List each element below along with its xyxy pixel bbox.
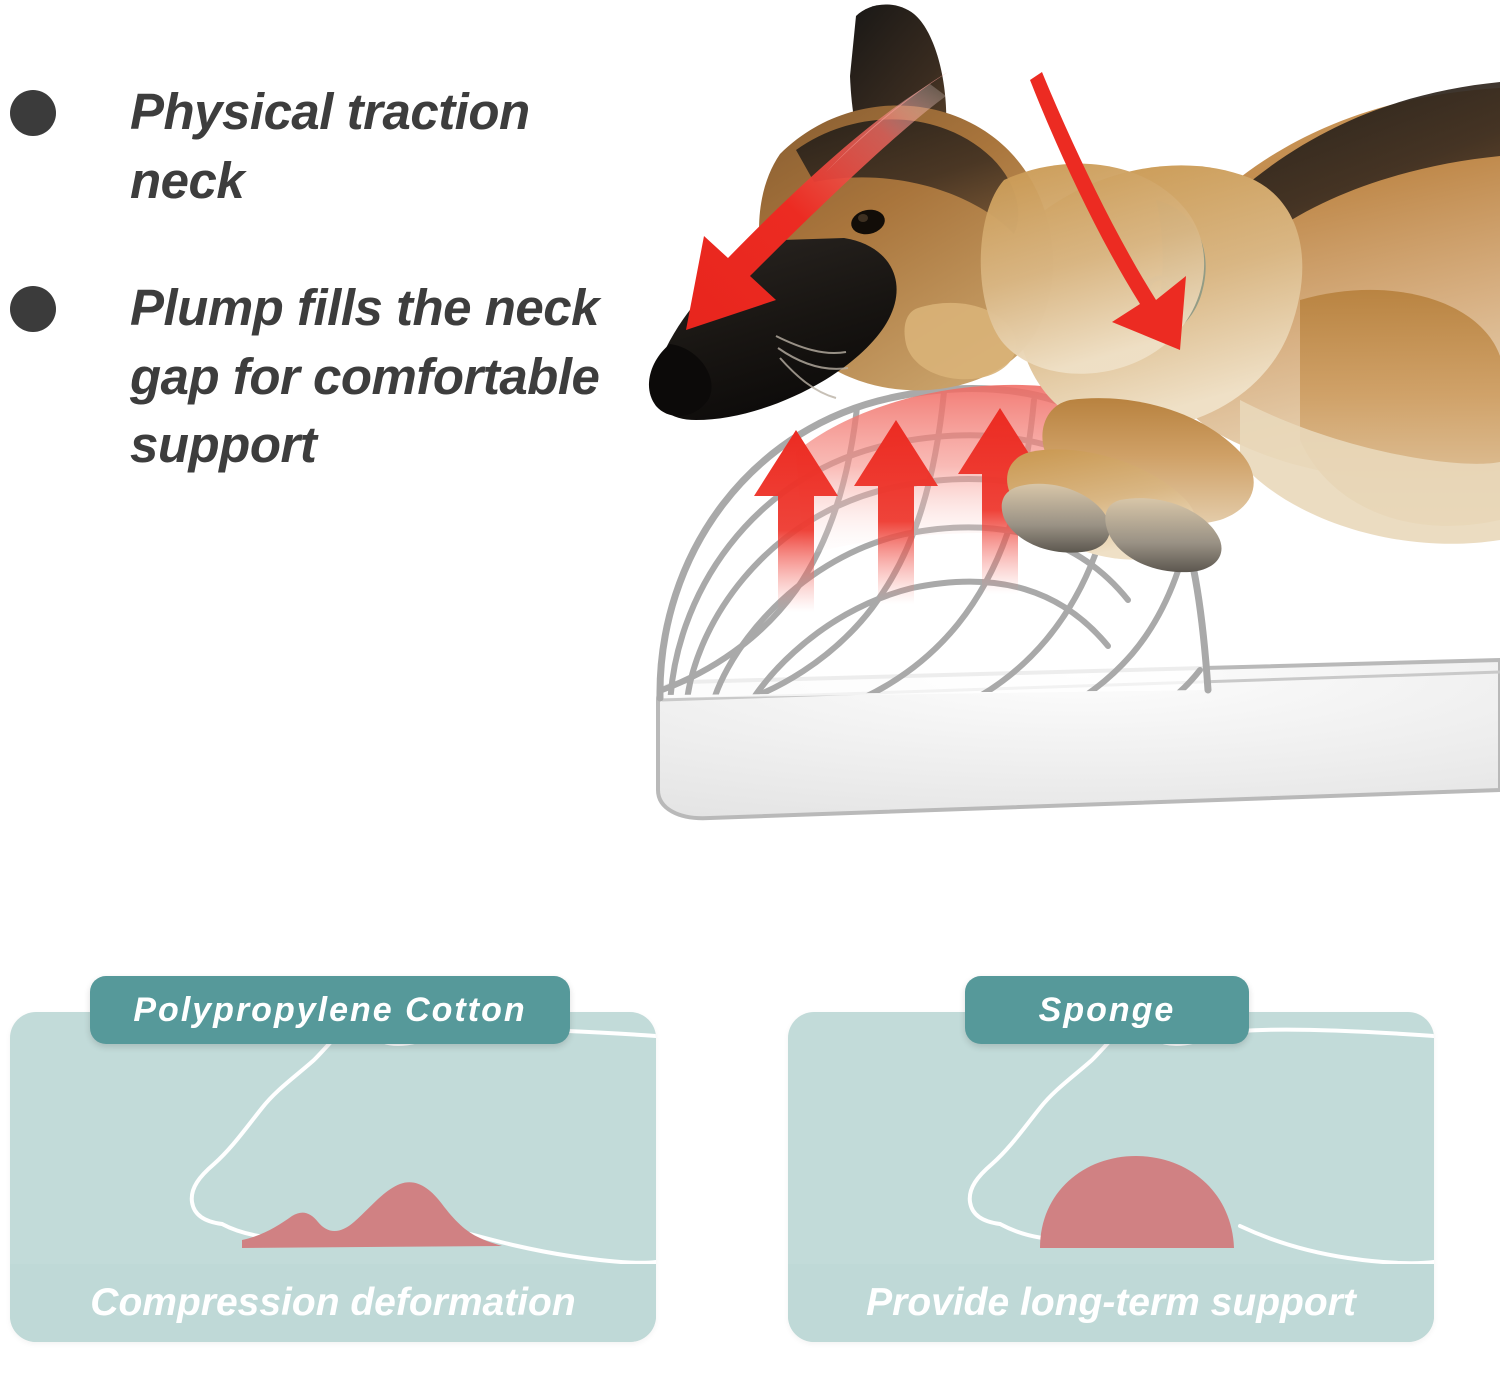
bullet-dot-icon (10, 286, 56, 332)
product-photo-composite (600, 0, 1500, 880)
card-caption-text: Compression deformation (10, 1264, 656, 1342)
feature-bullet-list: Physical traction neck Plump fills the n… (0, 78, 640, 538)
feature-bullet-item: Physical traction neck (0, 78, 640, 216)
feature-bullet-text: Physical traction neck (130, 78, 620, 216)
material-badge-sponge: Sponge (965, 976, 1249, 1044)
hero-section: Physical traction neck Plump fills the n… (0, 0, 1500, 880)
support-arrows-graphic (754, 408, 1042, 612)
comparison-card-sponge: Provide long-term support (788, 1012, 1434, 1342)
comparison-card-polypropylene: Compression deformation (10, 1012, 656, 1342)
feature-bullet-item: Plump fills the neck gap for comfortable… (0, 274, 640, 481)
material-badge-polypropylene: Polypropylene Cotton (90, 976, 570, 1044)
feature-bullet-text: Plump fills the neck gap for comfortable… (130, 274, 620, 481)
material-comparison-section: Compression deformation Polypropylene Co… (0, 880, 1500, 1379)
polypropylene-illustration (10, 1012, 656, 1280)
card-caption-text: Provide long-term support (788, 1264, 1434, 1342)
bullet-dot-icon (10, 90, 56, 136)
sponge-illustration (788, 1012, 1434, 1280)
